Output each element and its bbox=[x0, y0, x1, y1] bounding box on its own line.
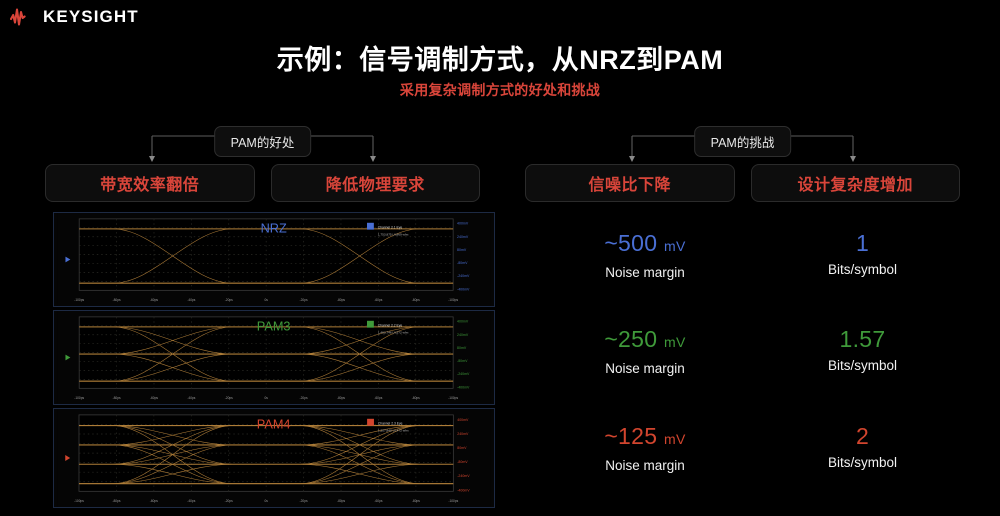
eye-diagram-title-pam3: PAM3 bbox=[257, 319, 291, 334]
metric-bits-label-pam4: Bits/symbol bbox=[760, 455, 965, 470]
y-axis-tick: -400mV bbox=[457, 385, 470, 389]
x-axis-tick: -20ps bbox=[300, 499, 308, 503]
metrics-column: ~500 mV Noise margin 1 Bits/symbol ~250 … bbox=[545, 228, 985, 516]
metric-row-pam4: ~125 mV Noise margin 2 Bits/symbol bbox=[545, 421, 985, 516]
challenge-box-2[interactable]: 设计复杂度增加 bbox=[751, 164, 961, 202]
y-axis-tick: 80mV bbox=[457, 346, 467, 350]
x-axis-tick: -100ps bbox=[74, 499, 84, 503]
x-axis-tick: 0s bbox=[264, 298, 268, 302]
metric-noise-margin-pam4: ~125 mV Noise margin bbox=[545, 421, 745, 473]
eye-diagram-panel-pam3[interactable]: PAM3Channel 2.2 Eye1,463,746 UI,572 wfm-… bbox=[53, 310, 495, 405]
eye-diagram-stack: NRZChannel 2.1 Eye1,753,875 UI,869 wfm-1… bbox=[53, 212, 495, 512]
y-axis-tick: -80mV bbox=[457, 359, 468, 363]
y-axis-tick: -400mV bbox=[457, 287, 470, 291]
metric-noise-value-nrz: ~500 mV bbox=[545, 228, 745, 261]
x-axis-tick: -60ps bbox=[150, 298, 158, 302]
x-axis-tick: -100ps bbox=[74, 298, 84, 302]
x-axis-tick: -60ps bbox=[374, 298, 382, 302]
eye-legend-sub: 1,753,875 UI,869 wfm bbox=[378, 233, 409, 237]
metric-noise-number-nrz: ~500 bbox=[604, 230, 657, 256]
metric-noise-label-pam4: Noise margin bbox=[545, 458, 745, 473]
keysight-waveform-icon bbox=[10, 7, 36, 27]
x-axis-tick: -80ps bbox=[113, 396, 121, 400]
brand-name: KEYSIGHT bbox=[43, 7, 139, 27]
benefit-box-1[interactable]: 带宽效率翻倍 bbox=[45, 164, 255, 202]
x-axis-tick: -20ps bbox=[225, 298, 233, 302]
x-axis-tick: -100ps bbox=[448, 396, 458, 400]
eye-legend-title: Channel 2.3 Eye bbox=[378, 422, 403, 426]
metric-noise-label-nrz: Noise margin bbox=[545, 265, 745, 280]
eye-legend-sub: 1,207,848 UI,472 wfm bbox=[378, 429, 409, 433]
x-axis-tick: -40ps bbox=[187, 298, 195, 302]
slide-root: KEYSIGHT 示例：信号调制方式，从NRZ到PAM 采用复杂调制方式的好处和… bbox=[0, 0, 1000, 516]
y-axis-tick: 400mV bbox=[457, 320, 469, 324]
x-axis-tick: -20ps bbox=[300, 396, 308, 400]
group-benefits: PAM的好处 带宽效率翻倍 降低物理要求 bbox=[45, 118, 480, 202]
metric-row-pam3: ~250 mV Noise margin 1.57 Bits/symbol bbox=[545, 324, 985, 421]
x-axis-tick: -60ps bbox=[150, 396, 158, 400]
y-axis-tick: -240mV bbox=[457, 372, 470, 376]
x-axis-tick: -80ps bbox=[112, 499, 120, 503]
x-axis-tick: -100ps bbox=[448, 298, 458, 302]
group-challenges: PAM的挑战 信噪比下降 设计复杂度增加 bbox=[525, 118, 960, 202]
metric-noise-number-pam3: ~250 bbox=[604, 326, 657, 352]
group-children-challenges: 信噪比下降 设计复杂度增加 bbox=[525, 164, 960, 202]
x-axis-tick: 0s bbox=[264, 396, 268, 400]
metric-row-nrz: ~500 mV Noise margin 1 Bits/symbol bbox=[545, 228, 985, 324]
eye-legend-sub: 1,463,746 UI,572 wfm bbox=[378, 331, 409, 335]
eye-diagram-title-nrz: NRZ bbox=[261, 221, 287, 236]
x-axis-tick: -60ps bbox=[150, 499, 158, 503]
challenge-box-1[interactable]: 信噪比下降 bbox=[525, 164, 735, 202]
metric-noise-unit-pam4: mV bbox=[664, 431, 686, 447]
x-axis-tick: -80ps bbox=[412, 298, 420, 302]
metric-noise-number-pam4: ~125 bbox=[604, 423, 657, 449]
eye-legend-title: Channel 2.1 Eye bbox=[378, 226, 403, 230]
metric-noise-margin-nrz: ~500 mV Noise margin bbox=[545, 228, 745, 280]
metric-noise-unit-nrz: mV bbox=[664, 238, 686, 254]
x-axis-tick: -80ps bbox=[337, 298, 345, 302]
metric-bits-value-pam3: 1.57 bbox=[760, 324, 965, 354]
eye-diagram-svg-pam3: PAM3Channel 2.2 Eye1,463,746 UI,572 wfm-… bbox=[54, 311, 494, 404]
eye-diagram-title-pam4: PAM4 bbox=[257, 417, 291, 432]
y-axis-tick: 240mV bbox=[457, 432, 469, 436]
x-axis-tick: -80ps bbox=[412, 396, 420, 400]
keysight-logo: KEYSIGHT bbox=[10, 7, 139, 27]
x-axis-tick: -20ps bbox=[300, 298, 308, 302]
eye-diagram-panel-nrz[interactable]: NRZChannel 2.1 Eye1,753,875 UI,869 wfm-1… bbox=[53, 212, 495, 307]
x-axis-tick: -80ps bbox=[412, 499, 420, 503]
y-axis-tick: 80mV bbox=[457, 248, 467, 252]
page-subtitle: 采用复杂调制方式的好处和挑战 bbox=[0, 80, 1000, 100]
x-axis-tick: -20ps bbox=[225, 396, 233, 400]
x-axis-tick: -80ps bbox=[337, 396, 345, 400]
y-axis-tick: -400mV bbox=[457, 488, 470, 492]
y-axis-tick: -80mV bbox=[457, 460, 468, 464]
y-axis-tick: 80mV bbox=[457, 446, 467, 450]
eye-diagram-svg-pam4: PAM4Channel 2.3 Eye1,207,848 UI,472 wfm-… bbox=[54, 409, 494, 507]
metric-noise-margin-pam3: ~250 mV Noise margin bbox=[545, 324, 745, 376]
metric-bits-value-nrz: 1 bbox=[760, 228, 965, 258]
metric-bits-label-nrz: Bits/symbol bbox=[760, 262, 965, 277]
eye-diagram-panel-pam4[interactable]: PAM4Channel 2.3 Eye1,207,848 UI,472 wfm-… bbox=[53, 408, 495, 508]
metric-bits-pam3: 1.57 Bits/symbol bbox=[760, 324, 965, 373]
metric-noise-value-pam3: ~250 mV bbox=[545, 324, 745, 357]
y-axis-tick: -240mV bbox=[457, 474, 470, 478]
page-title: 示例：信号调制方式，从NRZ到PAM bbox=[0, 38, 1000, 77]
group-parent-label-challenges: PAM的挑战 bbox=[694, 126, 792, 157]
x-axis-tick: -20ps bbox=[225, 499, 233, 503]
x-axis-tick: -40ps bbox=[187, 499, 195, 503]
metric-bits-value-pam4: 2 bbox=[760, 421, 965, 451]
x-axis-tick: 0s bbox=[264, 499, 268, 503]
y-axis-tick: 400mV bbox=[457, 222, 469, 226]
group-children-benefits: 带宽效率翻倍 降低物理要求 bbox=[45, 164, 480, 202]
x-axis-tick: -60ps bbox=[374, 499, 382, 503]
x-axis-tick: -40ps bbox=[187, 396, 195, 400]
metric-noise-unit-pam3: mV bbox=[664, 334, 686, 350]
y-axis-tick: -80mV bbox=[457, 261, 468, 265]
group-parent-label-benefits: PAM的好处 bbox=[214, 126, 312, 157]
metric-bits-nrz: 1 Bits/symbol bbox=[760, 228, 965, 277]
y-axis-tick: 240mV bbox=[457, 333, 469, 337]
metric-bits-pam4: 2 Bits/symbol bbox=[760, 421, 965, 470]
metric-noise-value-pam4: ~125 mV bbox=[545, 421, 745, 454]
y-axis-tick: 400mV bbox=[457, 418, 469, 422]
x-axis-tick: -80ps bbox=[337, 499, 345, 503]
metric-bits-label-pam3: Bits/symbol bbox=[760, 358, 965, 373]
x-axis-tick: -100ps bbox=[448, 499, 458, 503]
x-axis-tick: -60ps bbox=[374, 396, 382, 400]
eye-diagram-svg-nrz: NRZChannel 2.1 Eye1,753,875 UI,869 wfm-1… bbox=[54, 213, 494, 306]
eye-legend-title: Channel 2.2 Eye bbox=[378, 324, 403, 328]
metric-noise-label-pam3: Noise margin bbox=[545, 361, 745, 376]
y-axis-tick: 240mV bbox=[457, 235, 469, 239]
x-axis-tick: -100ps bbox=[74, 396, 84, 400]
y-axis-tick: -240mV bbox=[457, 274, 470, 278]
x-axis-tick: -80ps bbox=[113, 298, 121, 302]
benefit-box-2[interactable]: 降低物理要求 bbox=[271, 164, 481, 202]
